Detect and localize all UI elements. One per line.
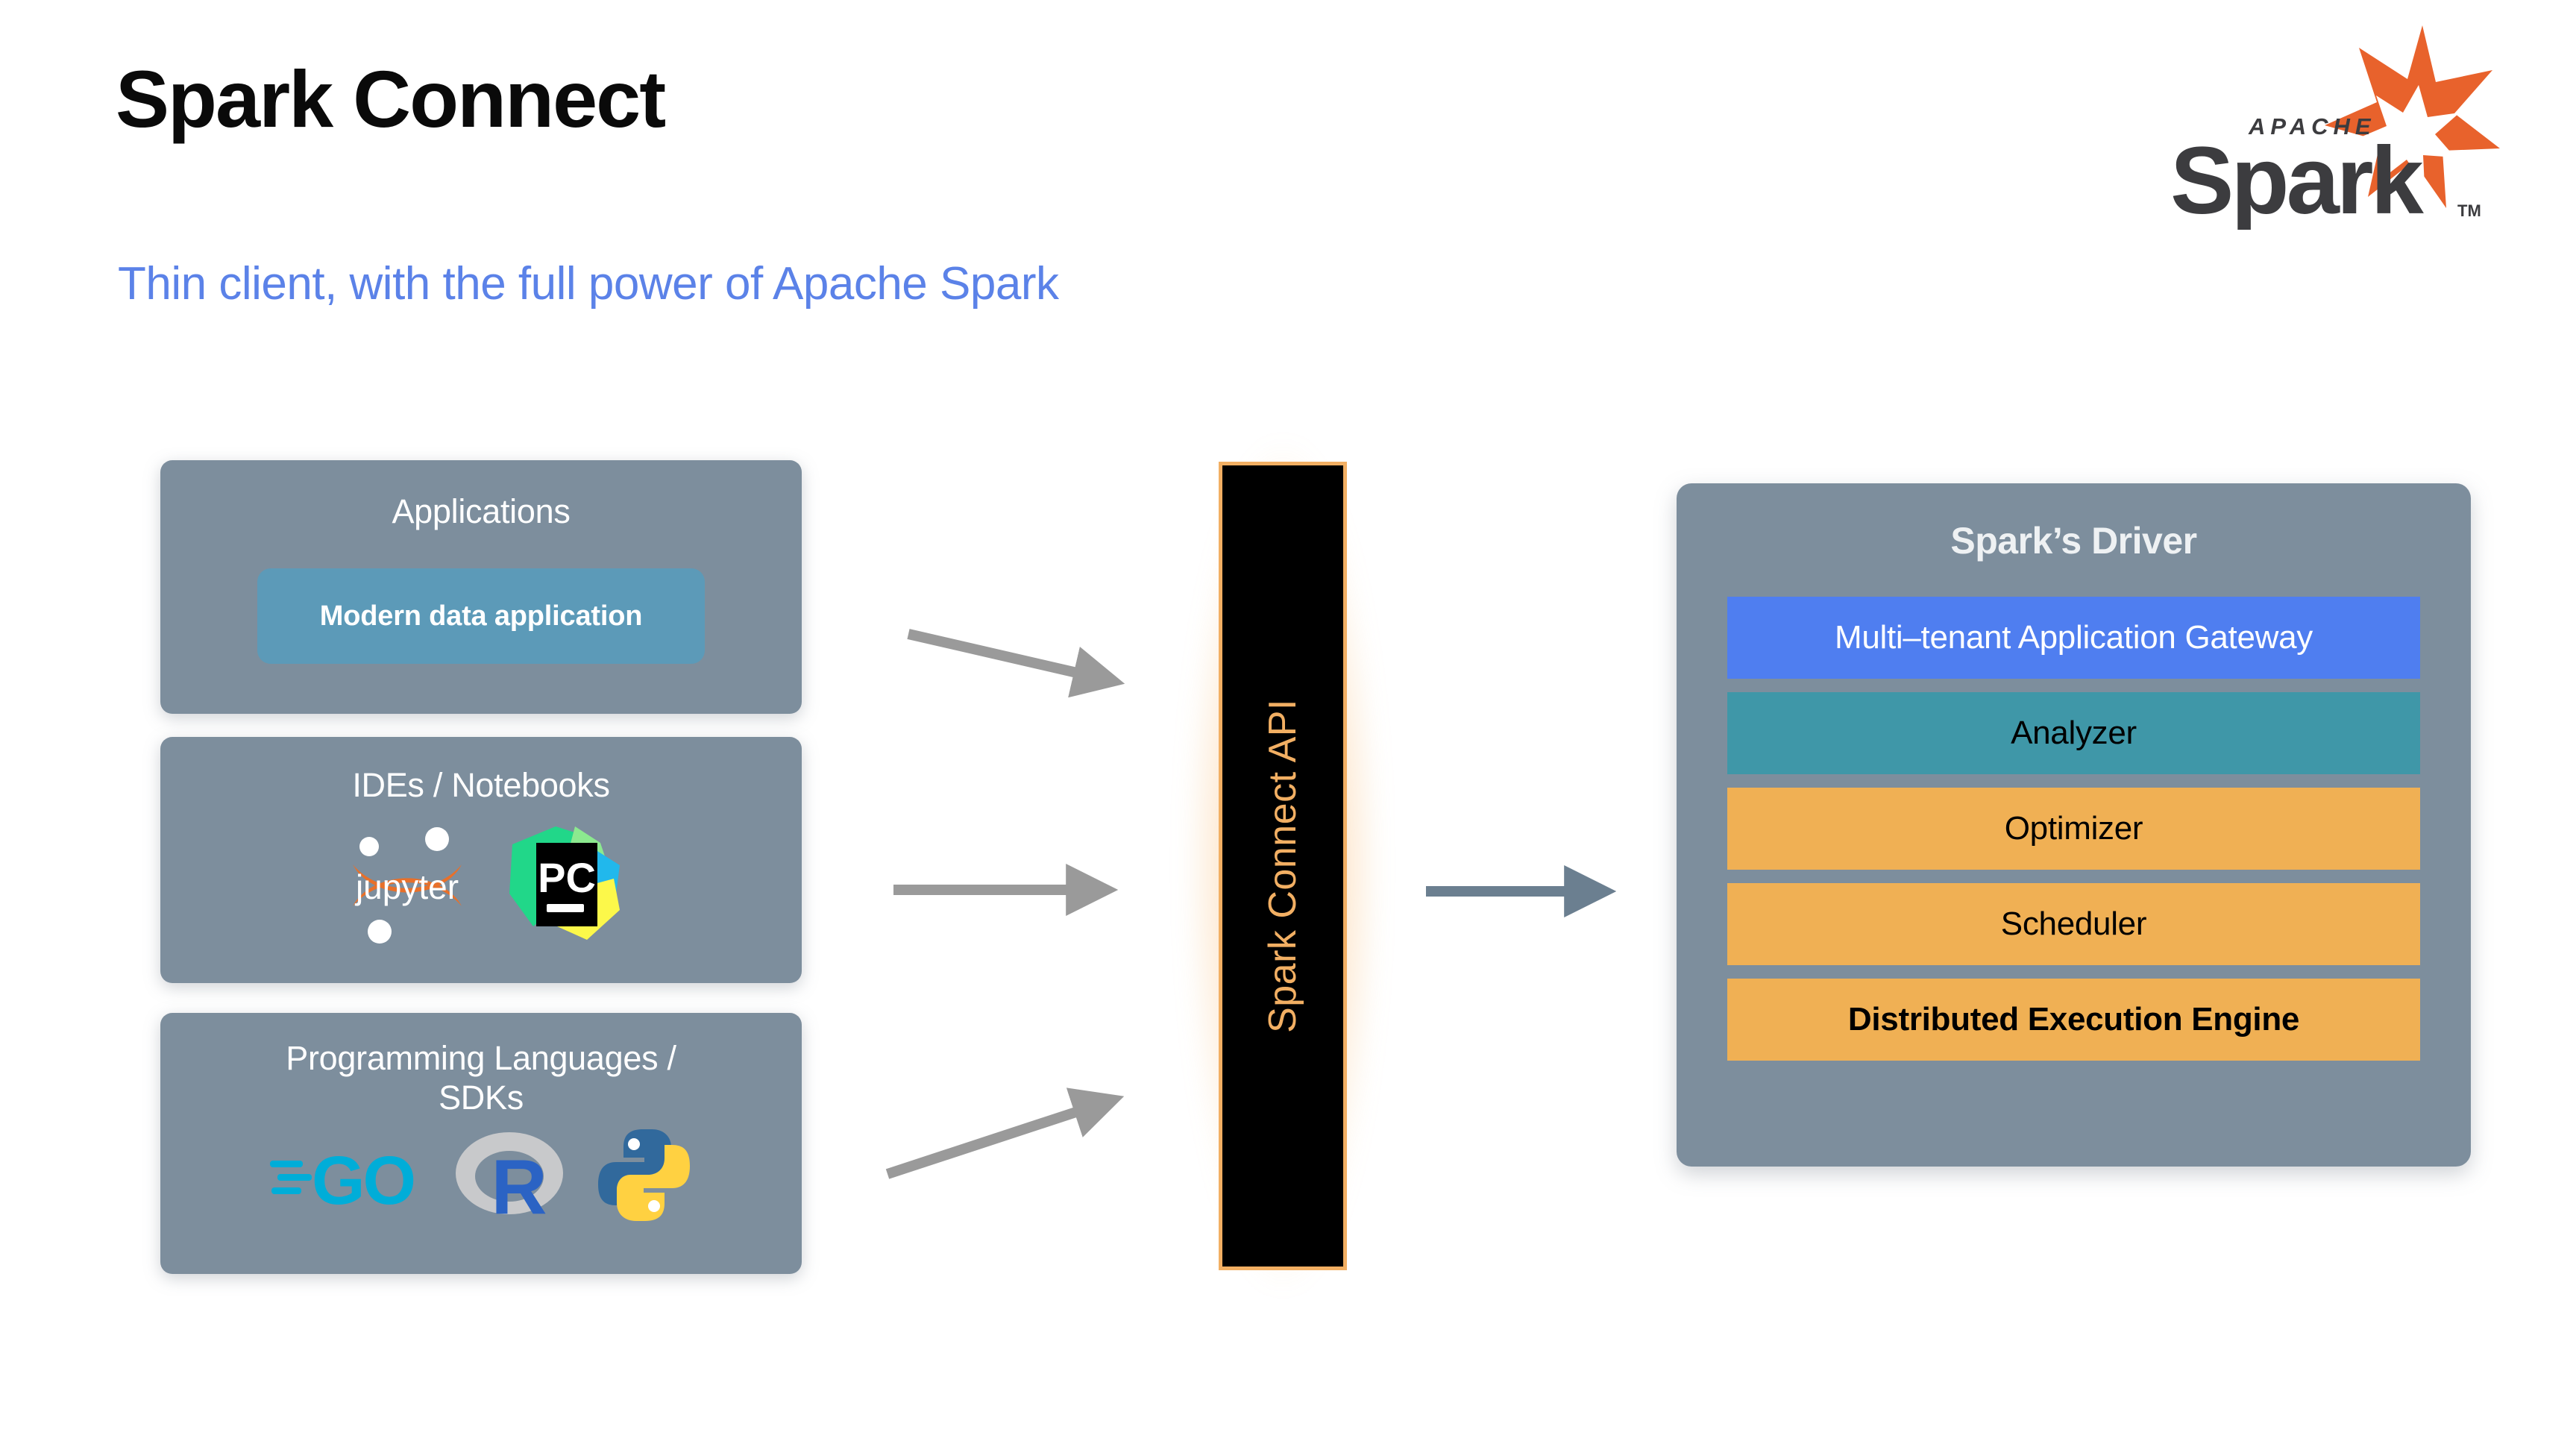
svg-text:R: R — [491, 1144, 547, 1224]
driver-row-list: Multi–tenant Application Gateway Analyze… — [1677, 597, 2471, 1061]
driver-row-analyzer[interactable]: Analyzer — [1727, 692, 2420, 774]
driver-row-execution-engine[interactable]: Distributed Execution Engine — [1727, 979, 2420, 1061]
spark-connect-api-label: Spark Connect API — [1260, 699, 1305, 1033]
svg-text:PC: PC — [538, 854, 596, 901]
spark-connect-api-bar[interactable]: Spark Connect API — [1219, 462, 1347, 1270]
golang-icon: GO — [268, 1131, 425, 1224]
sparks-driver-panel[interactable]: Spark’s Driver Multi–tenant Application … — [1677, 483, 2471, 1167]
svg-text:GO: GO — [312, 1143, 414, 1219]
card-langs-title-line1: Programming Languages / — [160, 1038, 802, 1078]
driver-row-scheduler[interactable]: Scheduler — [1727, 883, 2420, 965]
driver-row-optimizer[interactable]: Optimizer — [1727, 788, 2420, 870]
ide-logo-row: jupyter PC — [160, 818, 802, 952]
svg-text:jupyter: jupyter — [354, 867, 458, 906]
driver-row-execution-engine-label: Distributed Execution Engine — [1848, 1001, 2299, 1038]
modern-data-application-chip[interactable]: Modern data application — [257, 568, 705, 664]
page-title: Spark Connect — [116, 56, 665, 143]
python-icon — [594, 1125, 694, 1229]
driver-row-analyzer-label: Analyzer — [2011, 715, 2137, 752]
jupyter-icon: jupyter — [336, 818, 478, 952]
pycharm-icon: PC — [503, 822, 626, 949]
card-langs-title-line2: SDKs — [160, 1078, 802, 1117]
driver-row-optimizer-label: Optimizer — [2005, 810, 2143, 847]
sparks-driver-title: Spark’s Driver — [1677, 519, 2471, 562]
slide-canvas: Spark Connect Thin client, with the full… — [0, 0, 2576, 1447]
language-logo-row: GO R — [160, 1125, 802, 1229]
card-ides-notebooks[interactable]: IDEs / Notebooks jupyter — [160, 737, 802, 983]
arrow-applications-to-api — [908, 634, 1096, 677]
driver-row-gateway-label: Multi–tenant Application Gateway — [1835, 619, 2313, 656]
card-programming-languages-sdks-title: Programming Languages / SDKs — [160, 1038, 802, 1117]
apache-spark-logo: APACHE Spark TM — [2129, 21, 2517, 230]
arrow-languages-to-api — [888, 1105, 1096, 1174]
page-subtitle: Thin client, with the full power of Apac… — [118, 257, 1058, 310]
card-applications[interactable]: Applications Modern data application — [160, 460, 802, 714]
card-ides-notebooks-title: IDEs / Notebooks — [160, 765, 802, 805]
logo-wordmark: Spark — [2170, 128, 2425, 230]
card-programming-languages-sdks[interactable]: Programming Languages / SDKs GO — [160, 1013, 802, 1274]
logo-trademark: TM — [2457, 201, 2481, 220]
card-applications-title: Applications — [160, 492, 802, 531]
r-language-icon: R — [453, 1127, 565, 1228]
driver-row-scheduler-label: Scheduler — [2001, 905, 2146, 943]
driver-row-gateway[interactable]: Multi–tenant Application Gateway — [1727, 597, 2420, 679]
